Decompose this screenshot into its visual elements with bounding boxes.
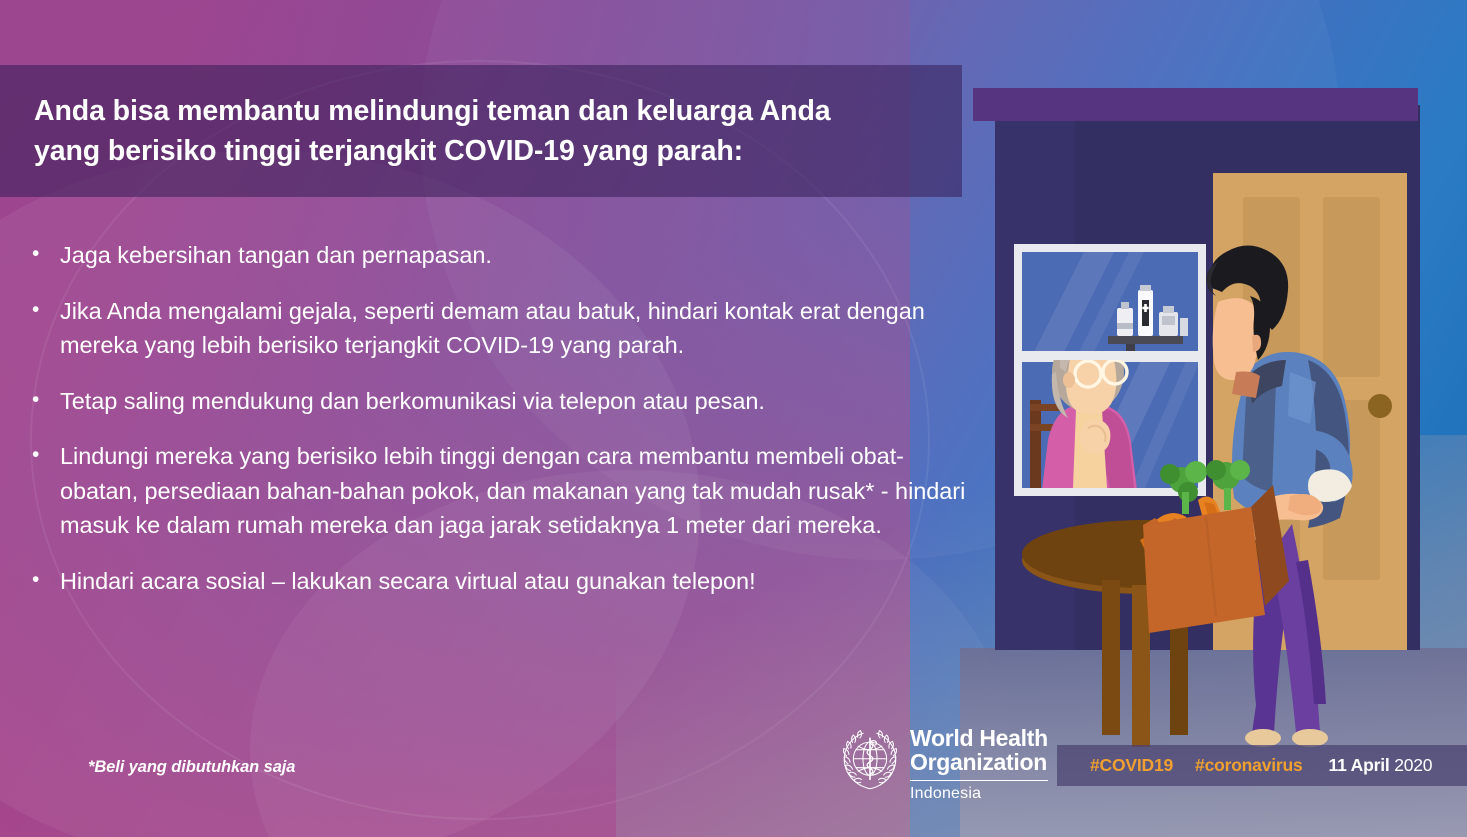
chair (1030, 400, 1041, 488)
hashtag-bar: #COVID19 #coronavirus 11 April 2020 (1057, 745, 1467, 786)
who-logo: World Health Organization Indonesia (838, 726, 1048, 803)
list-item-text: Hindari acara sosial – lakukan secara vi… (60, 564, 977, 599)
door-panel-right (1323, 197, 1380, 377)
page-title: Anda bisa membantu melindungi teman dan … (34, 91, 831, 172)
list-item: • Lindungi mereka yang berisiko lebih ti… (32, 439, 977, 543)
stool-leg-mid (1132, 585, 1150, 747)
list-item-text: Lindungi mereka yang berisiko lebih ting… (60, 439, 977, 543)
list-item: • Hindari acara sosial – lakukan secara … (32, 564, 977, 599)
medicine-box (1180, 318, 1188, 336)
headline-line-1: Anda bisa membantu melindungi teman dan … (34, 91, 831, 131)
list-item-text: Jika Anda mengalami gejala, seperti dema… (60, 294, 977, 363)
bullet-marker-icon: • (32, 294, 60, 363)
list-item: • Jaga kebersihan tangan dan pernapasan. (32, 238, 977, 273)
who-wordmark: World Health Organization Indonesia (910, 726, 1048, 803)
who-country-label: Indonesia (910, 785, 1048, 803)
advice-list: • Jaga kebersihan tangan dan pernapasan.… (32, 238, 977, 619)
awning (973, 88, 1418, 121)
who-divider (910, 780, 1048, 782)
list-item-text: Tetap saling mendukung dan berkomunikasi… (60, 384, 977, 419)
who-emblem-icon (838, 728, 902, 792)
headline-line-2: yang berisiko tinggi terjangkit COVID-19… (34, 131, 831, 171)
man-face (1213, 298, 1259, 380)
publication-date: 11 April 2020 (1329, 755, 1433, 776)
man-neck (1232, 372, 1260, 399)
stool-leg-left (1102, 580, 1120, 735)
illustration-scene (960, 0, 1467, 837)
bullet-marker-icon: • (32, 384, 60, 419)
list-item-text: Jaga kebersihan tangan dan pernapasan. (60, 238, 977, 273)
date-year: 2020 (1394, 755, 1432, 775)
footnote-text: *Beli yang dibutuhkan saja (88, 758, 295, 777)
hashtag-covid19[interactable]: #COVID19 (1090, 755, 1173, 776)
headline-panel: Anda bisa membantu melindungi teman dan … (0, 65, 962, 197)
who-name-line-1: World Health (910, 726, 1048, 750)
list-item: • Jika Anda mengalami gejala, seperti de… (32, 294, 977, 363)
bullet-marker-icon: • (32, 238, 60, 273)
medicine-bottle (1117, 308, 1133, 336)
bullet-marker-icon: • (32, 564, 60, 599)
bullet-marker-icon: • (32, 439, 60, 543)
door-knob-icon (1368, 394, 1392, 418)
list-item: • Tetap saling mendukung dan berkomunika… (32, 384, 977, 419)
poster-root: Anda bisa membantu melindungi teman dan … (0, 0, 1467, 837)
hashtag-coronavirus[interactable]: #coronavirus (1195, 755, 1303, 776)
who-name-line-2: Organization (910, 750, 1048, 774)
date-day-month: 11 April (1329, 755, 1390, 775)
